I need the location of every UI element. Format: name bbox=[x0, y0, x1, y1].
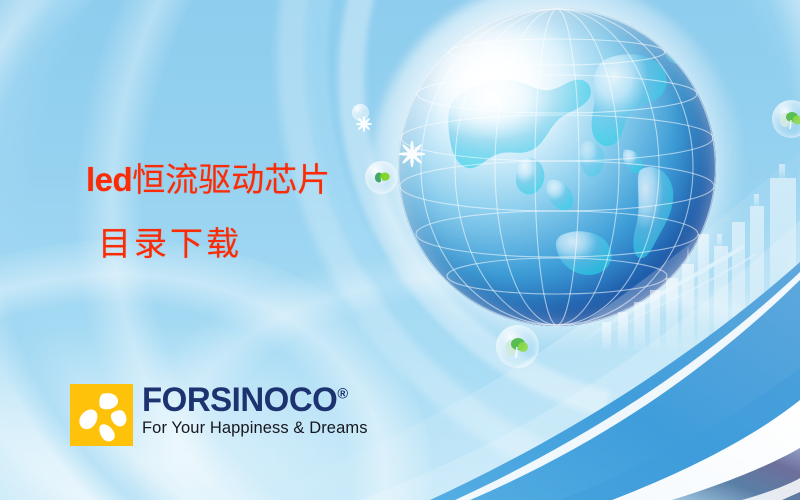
bubble-globe-small bbox=[352, 104, 369, 121]
pinwheel-petals-glyph bbox=[70, 384, 133, 446]
leaf-sprout-edge-icon bbox=[772, 100, 800, 138]
pinwheel-petals-icon bbox=[70, 384, 133, 446]
poster-canvas: led恒流驱动芯片 目录下载 FORSINOCO® For Your Happ bbox=[0, 0, 800, 500]
logo-wordmark: FORSINOCO® For Your Happiness & Dreams bbox=[142, 382, 368, 437]
logo-company-name: FORSINOCO® bbox=[142, 382, 361, 418]
headline-line-1: led恒流驱动芯片 bbox=[86, 160, 506, 200]
headline-line-2: 目录下载 bbox=[98, 224, 506, 264]
leaf-sprout-icon bbox=[496, 325, 539, 368]
logo-name-text: FORSINOCO bbox=[142, 381, 337, 419]
bubble-leaf-large bbox=[496, 325, 539, 368]
headline-cjk-1: 恒流驱动芯片 bbox=[132, 160, 330, 199]
logo-tagline: For Your Happiness & Dreams bbox=[142, 419, 368, 437]
company-logo[interactable]: FORSINOCO® For Your Happiness & Dreams bbox=[70, 384, 368, 446]
headline-block: led恒流驱动芯片 目录下载 bbox=[86, 160, 506, 265]
registered-trademark-icon: ® bbox=[337, 386, 348, 403]
bubble-leaf-edge bbox=[772, 100, 800, 138]
headline-latin-led: led bbox=[86, 161, 132, 198]
